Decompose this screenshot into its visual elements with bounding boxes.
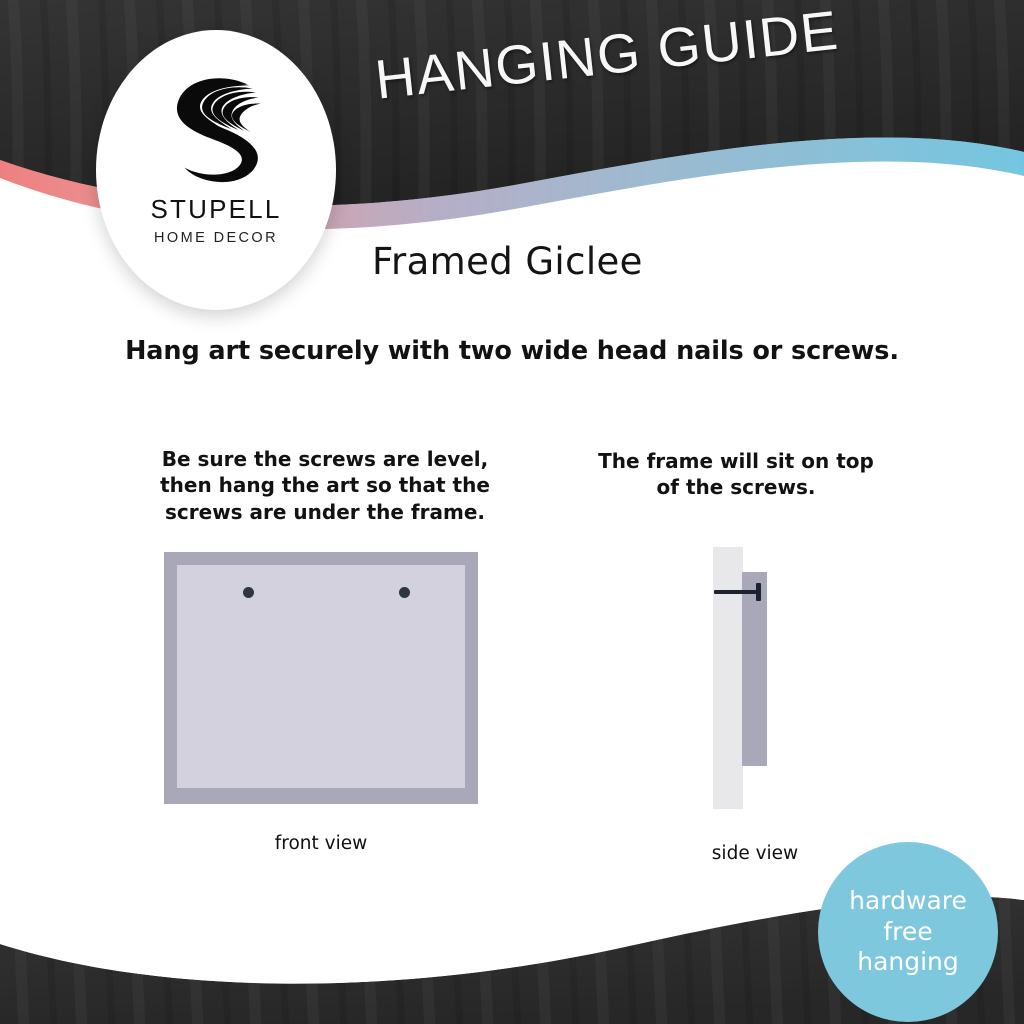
front-view-caption: Be sure the screws are level, then hang … (150, 446, 500, 525)
brand-name: STUPELL (150, 194, 281, 225)
brand-tagline: HOME DECOR (154, 230, 278, 246)
screw-dot-right-icon (399, 587, 410, 598)
hanging-guide-infographic: STUPELL HOME DECOR HANGING GUIDE Framed … (0, 0, 1024, 1024)
brand-logo-badge: STUPELL HOME DECOR (96, 30, 336, 310)
badge-line-1: hardware (849, 886, 967, 917)
side-view-wall (713, 547, 743, 809)
side-view-caption: The frame will sit on top of the screws. (586, 448, 886, 501)
front-view-caption-line-1: Be sure the screws are level, (150, 446, 500, 472)
front-view-diagram (164, 552, 478, 804)
badge-line-2: free (883, 917, 932, 948)
stupell-swirl-s-logo-icon (150, 58, 282, 190)
product-title: Framed Giclee (372, 240, 643, 283)
front-view-mat (177, 565, 465, 788)
page-title: HANGING GUIDE (372, 0, 842, 112)
side-view-caption-line-1: The frame will sit on top (586, 448, 886, 474)
side-view-caption-line-2: of the screws. (586, 474, 886, 500)
front-view-label: front view (171, 833, 471, 854)
side-view-frame (742, 572, 767, 766)
side-view-diagram (700, 540, 810, 820)
main-instruction: Hang art securely with two wide head nai… (0, 336, 1024, 366)
side-view-label: side view (655, 843, 855, 864)
badge-line-3: hanging (857, 947, 959, 978)
front-view-caption-line-2: then hang the art so that the (150, 472, 500, 498)
hardware-free-hanging-badge: hardware free hanging (818, 842, 998, 1022)
nail-shaft-icon (714, 590, 759, 594)
nail-head-icon (756, 583, 761, 601)
front-view-caption-line-3: screws are under the frame. (150, 499, 500, 525)
screw-dot-left-icon (243, 587, 254, 598)
